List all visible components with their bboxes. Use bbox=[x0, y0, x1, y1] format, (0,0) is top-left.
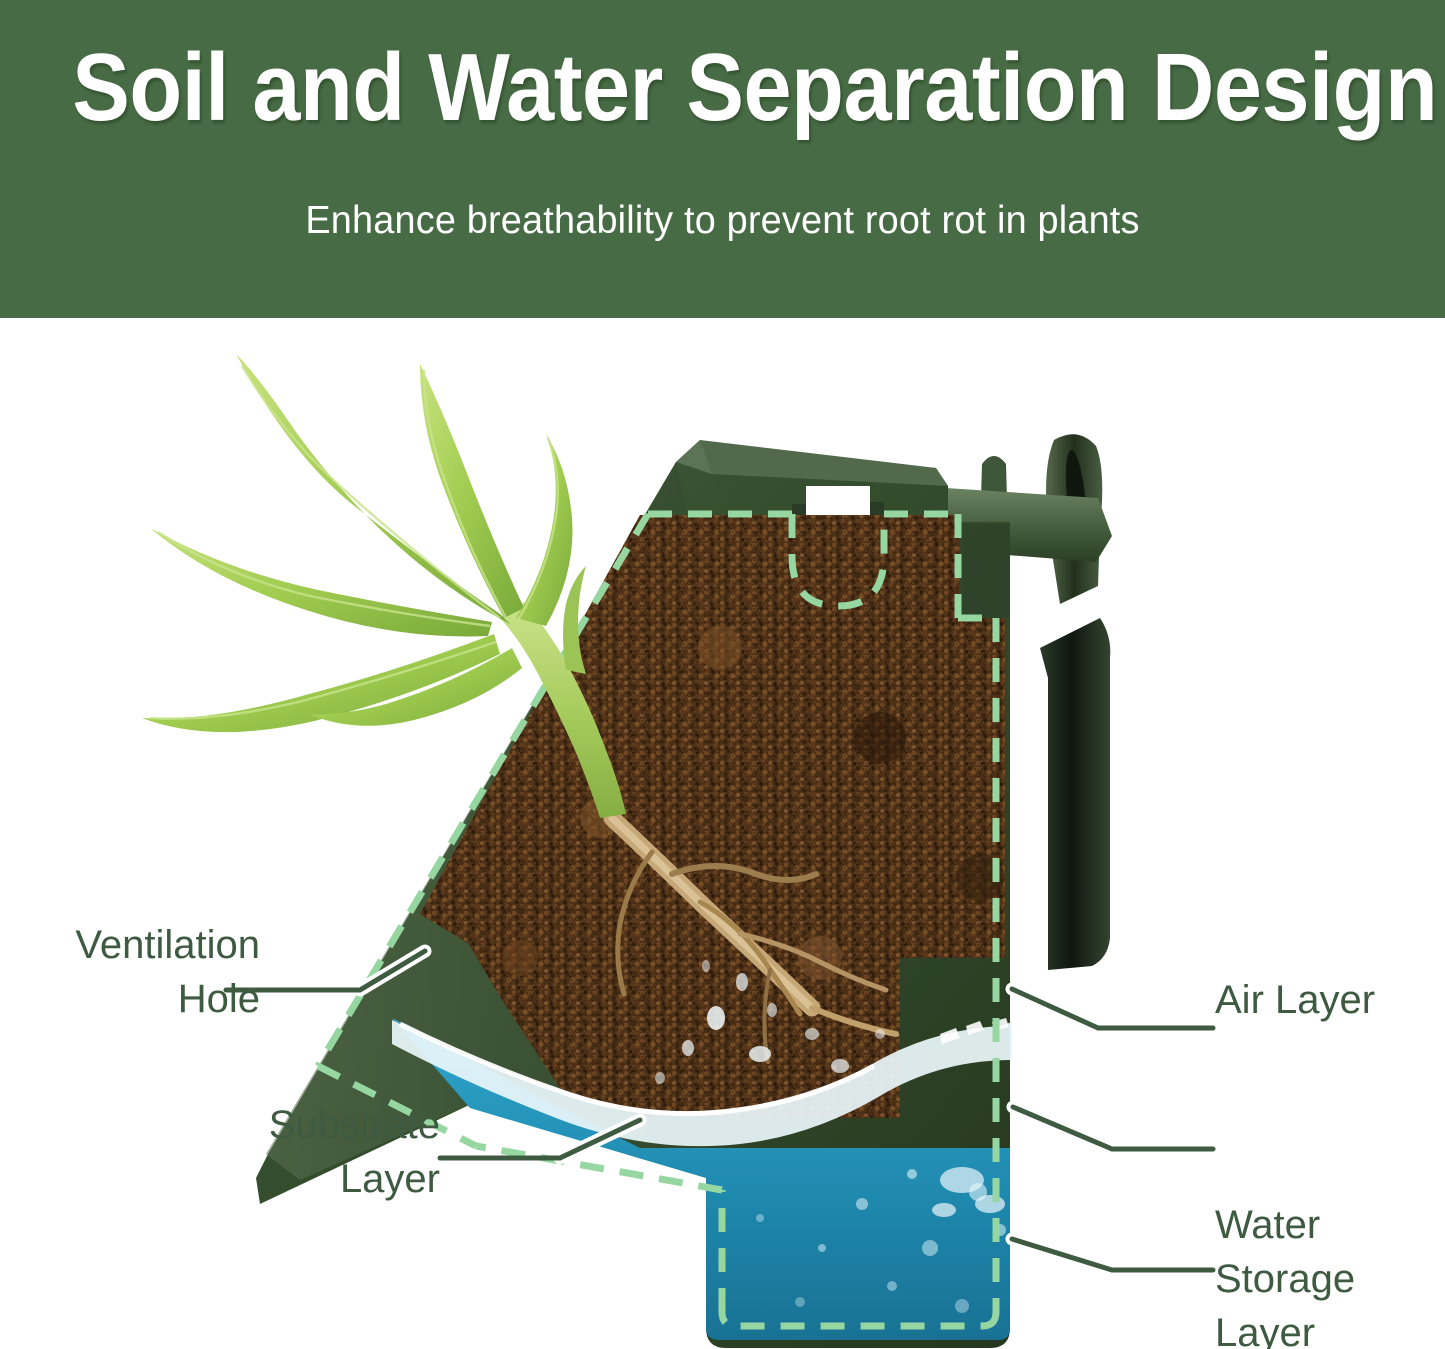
page-title: Soil and Water Separation Design bbox=[72, 36, 1373, 140]
wall-mount-bracket bbox=[1040, 618, 1110, 970]
plant-leaves bbox=[142, 354, 572, 732]
illustration-stage: Ventilation Hole Substrate Layer Air Lay… bbox=[0, 318, 1445, 1349]
callout-label-water-storage-layer: Water Storage Layer bbox=[1215, 1198, 1430, 1349]
callout-label-air-layer: Air Layer bbox=[1215, 973, 1430, 1027]
callout-label-ventilation-hole: Ventilation Hole bbox=[10, 918, 260, 1026]
infographic-page: Soil and Water Separation Design Enhance… bbox=[0, 0, 1445, 1349]
leader-air-layer bbox=[1012, 989, 1213, 1028]
header-banner: Soil and Water Separation Design Enhance… bbox=[0, 0, 1445, 318]
leader-drain-hole bbox=[1013, 1107, 1213, 1149]
page-subtitle: Enhance breathability to prevent root ro… bbox=[22, 196, 1424, 246]
leader-water-storage-layer bbox=[1012, 1239, 1213, 1270]
callout-label-substrate-layer: Substrate Layer bbox=[190, 1098, 440, 1206]
